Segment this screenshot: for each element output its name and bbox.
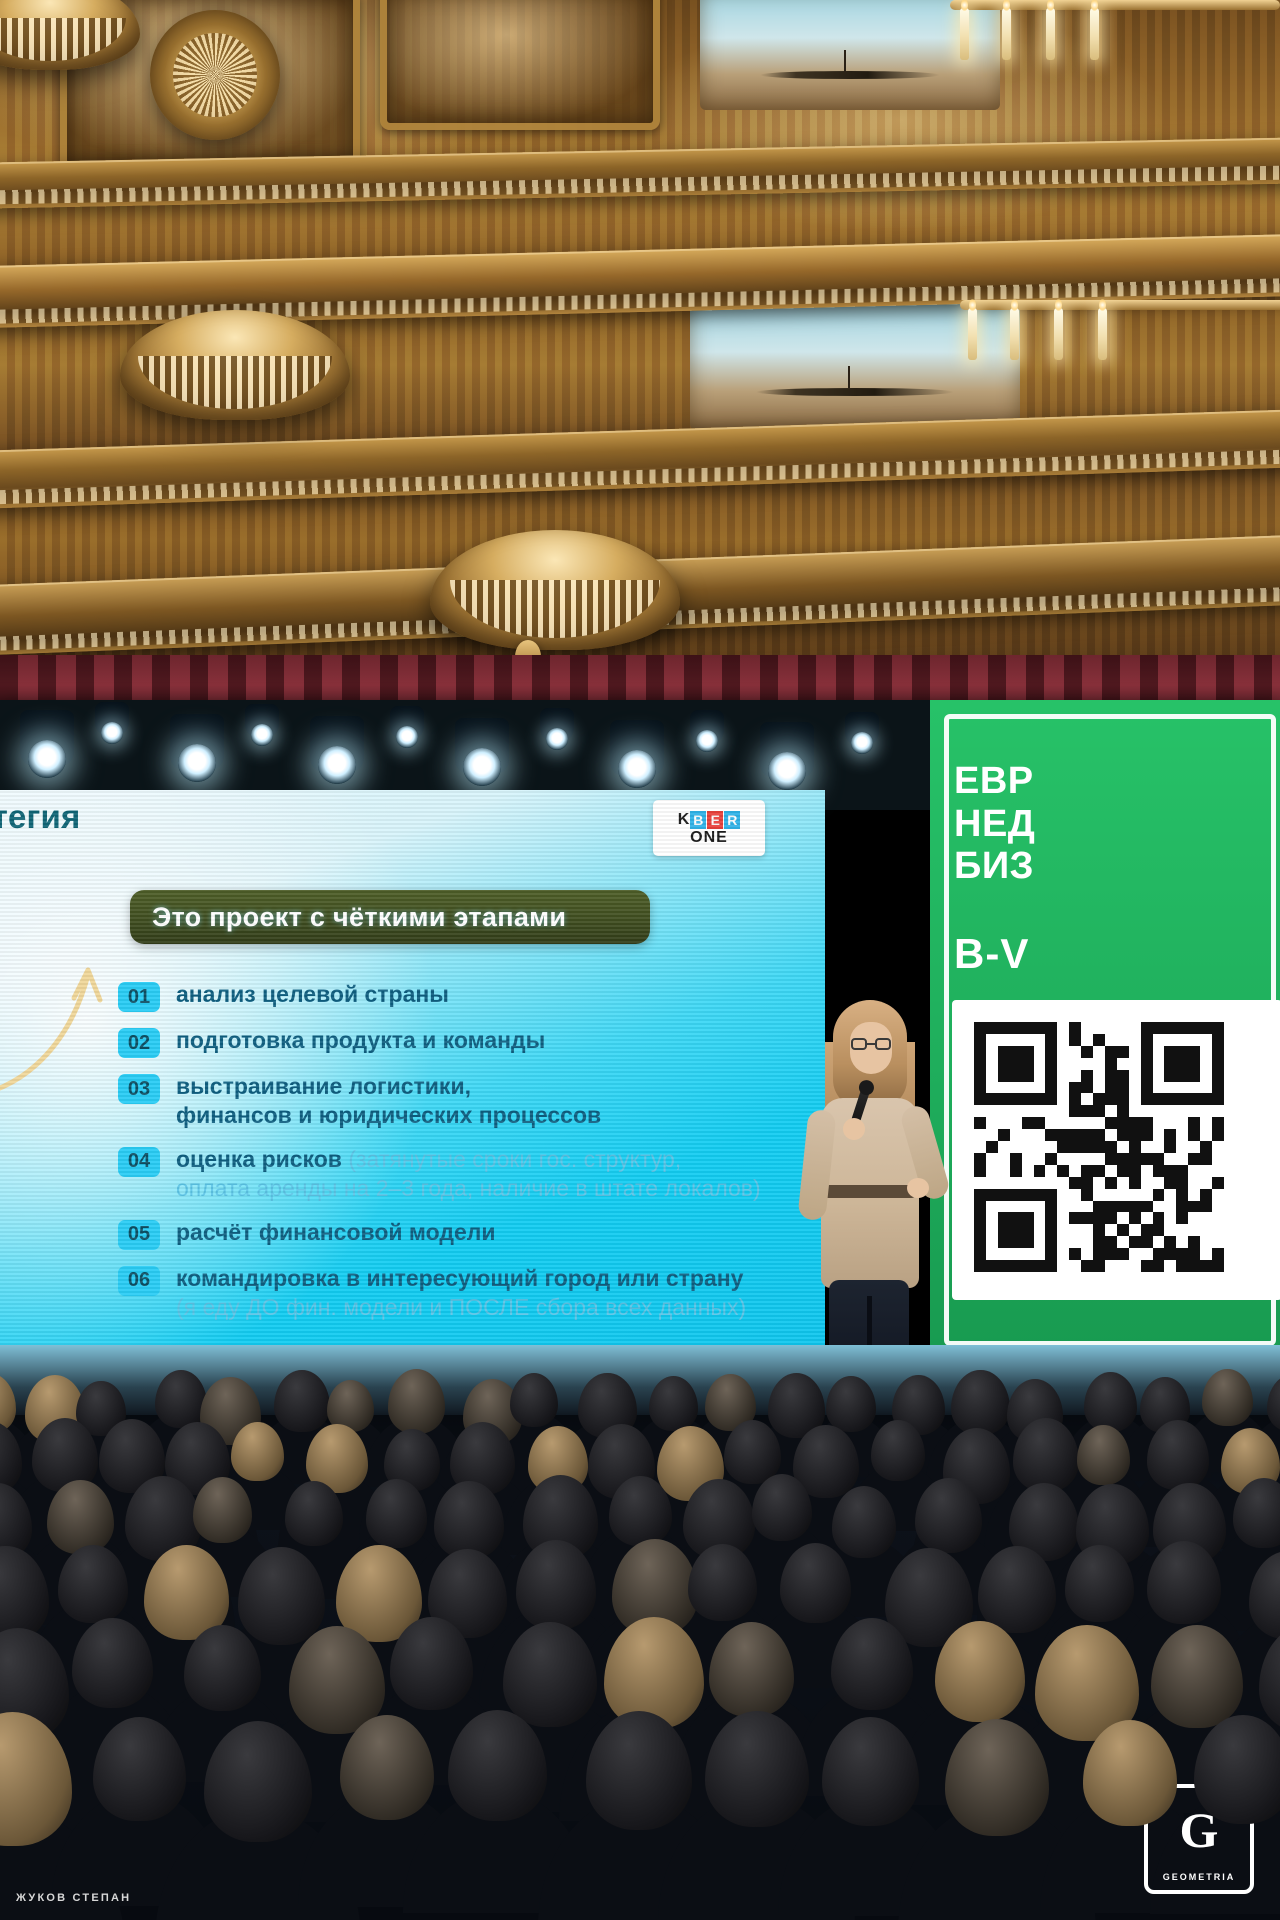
qr-module (974, 1058, 986, 1070)
qr-module (1022, 1058, 1034, 1070)
step-main: анализ целевой страны (176, 981, 449, 1007)
step-text: подготовка продукта и команды (176, 1026, 545, 1055)
qr-code-panel (952, 1000, 1280, 1300)
ceiling-dome-light (430, 530, 680, 650)
chandelier-candle (1054, 308, 1063, 360)
qr-module (1045, 1022, 1057, 1034)
banner-subtitle: B-V (954, 930, 1029, 978)
qr-module (998, 1058, 1010, 1070)
qr-module (1093, 1034, 1105, 1046)
qr-module (1045, 1201, 1057, 1213)
qr-module (974, 1165, 986, 1177)
qr-module (1034, 1189, 1046, 1201)
qr-module (1164, 1129, 1176, 1141)
qr-module (998, 1046, 1010, 1058)
stage-spotlight (610, 720, 664, 776)
qr-module (1010, 1153, 1022, 1165)
chandelier-bar (960, 300, 1280, 310)
qr-module (1176, 1212, 1188, 1224)
qr-module (1081, 1212, 1093, 1224)
qr-module (1212, 1082, 1224, 1094)
audience-head (951, 1370, 1009, 1435)
qr-module (1141, 1034, 1153, 1046)
step-number: 06 (118, 1266, 160, 1296)
fresco-mast (848, 366, 850, 388)
stage-spotlight (690, 710, 724, 744)
qr-module (1010, 1058, 1022, 1070)
qr-module (1117, 1082, 1129, 1094)
qr-module (1105, 1236, 1117, 1248)
chandelier-candle (1002, 8, 1011, 60)
qr-module (1129, 1165, 1141, 1177)
qr-module (998, 1236, 1010, 1248)
qr-module (1212, 1117, 1224, 1129)
qr-module (1045, 1046, 1057, 1058)
qr-module (998, 1129, 1010, 1141)
qr-module (1141, 1070, 1153, 1082)
qr-module (1034, 1093, 1046, 1105)
spotlight-lens (463, 748, 501, 786)
qr-module (1164, 1046, 1176, 1058)
qr-module (1153, 1153, 1165, 1165)
qr-module (974, 1201, 986, 1213)
qr-module (1164, 1165, 1176, 1177)
qr-module (1212, 1058, 1224, 1070)
slide-banner-title: Это проект с чёткими этапами (130, 890, 650, 944)
qr-module (1117, 1201, 1129, 1213)
qr-module (1212, 1022, 1224, 1034)
qr-module (998, 1093, 1010, 1105)
spotlight-lens (546, 728, 568, 750)
step-note: (затянутые сроки гос. структур, (342, 1146, 681, 1172)
qr-module (986, 1141, 998, 1153)
qr-module (1141, 1153, 1153, 1165)
qr-module (1117, 1093, 1129, 1105)
spotlight-lens (101, 722, 123, 744)
qr-module (974, 1248, 986, 1260)
glasses-bridge (867, 1043, 875, 1045)
photographer-credit: ЖУКОВ СТЕПАН (16, 1892, 131, 1904)
qr-module (1093, 1105, 1105, 1117)
qr-module (1129, 1129, 1141, 1141)
qr-module (1141, 1082, 1153, 1094)
qr-module (974, 1189, 986, 1201)
step-main: оценка рисков (176, 1146, 342, 1172)
audience-head (434, 1481, 504, 1559)
qr-module (1188, 1093, 1200, 1105)
qr-module (1164, 1236, 1176, 1248)
qr-module (1105, 1093, 1117, 1105)
kiberone-letter-e: E (707, 811, 723, 829)
qr-module (1212, 1093, 1224, 1105)
ceiling-molding (0, 409, 1280, 510)
qr-module (974, 1224, 986, 1236)
qr-module (1141, 1022, 1153, 1034)
step-text: анализ целевой страны (176, 980, 449, 1009)
step-number: 02 (118, 1028, 160, 1058)
qr-code[interactable] (974, 1022, 1224, 1272)
qr-module (1045, 1129, 1057, 1141)
qr-module (1164, 1093, 1176, 1105)
qr-module (1117, 1070, 1129, 1082)
fresco-boat (760, 71, 940, 79)
qr-module (1010, 1165, 1022, 1177)
banner-title-line2: НЕД (954, 803, 1035, 846)
kiberone-logo-row1: K B E R (678, 811, 741, 829)
audience-head (688, 1544, 757, 1621)
step-text: расчёт финансовой модели (176, 1218, 496, 1247)
qr-module (1081, 1070, 1093, 1082)
qr-module (1129, 1201, 1141, 1213)
chandelier-candle (1010, 308, 1019, 360)
step-main: командировка в интересующий город или ст… (176, 1265, 743, 1291)
step-number: 04 (118, 1147, 160, 1177)
qr-module (1117, 1105, 1129, 1117)
qr-module (974, 1034, 986, 1046)
event-banner: ЕВР НЕД БИЗ B-V (930, 700, 1280, 1360)
qr-module (1045, 1248, 1057, 1260)
qr-module (1188, 1201, 1200, 1213)
qr-module (1200, 1153, 1212, 1165)
qr-module (1212, 1129, 1224, 1141)
qr-module (974, 1022, 986, 1034)
eyeglasses-icon (851, 1038, 891, 1050)
list-item: 04 оценка рисков (затянутые сроки гос. с… (118, 1145, 808, 1204)
spotlight-lens (851, 732, 873, 754)
qr-module (1069, 1248, 1081, 1260)
qr-module (1141, 1093, 1153, 1105)
qr-module (1105, 1141, 1117, 1153)
qr-module (1105, 1201, 1117, 1213)
qr-module (974, 1236, 986, 1248)
lens-left (851, 1038, 867, 1050)
qr-module (1188, 1058, 1200, 1070)
qr-module (998, 1260, 1010, 1272)
step-main: выстраивание логистики, (176, 1073, 471, 1099)
qr-module (1141, 1260, 1153, 1272)
qr-module (1081, 1260, 1093, 1272)
list-item: 05 расчёт финансовой модели (118, 1218, 808, 1250)
chandelier (960, 300, 1280, 380)
qr-module (1129, 1236, 1141, 1248)
qr-module (1212, 1070, 1224, 1082)
qr-module (1188, 1070, 1200, 1082)
qr-module (1057, 1141, 1069, 1153)
qr-module (986, 1022, 998, 1034)
qr-module (1212, 1177, 1224, 1189)
qr-module (1081, 1105, 1093, 1117)
qr-module (1164, 1141, 1176, 1153)
stage-spotlight (170, 714, 224, 770)
qr-module (1022, 1236, 1034, 1248)
qr-module (1117, 1046, 1129, 1058)
qr-module (998, 1189, 1010, 1201)
qr-module (1022, 1212, 1034, 1224)
qr-module (974, 1070, 986, 1082)
audience-head (1202, 1369, 1252, 1426)
qr-module (1010, 1022, 1022, 1034)
qr-module (1010, 1260, 1022, 1272)
qr-module (1105, 1177, 1117, 1189)
qr-module (1117, 1117, 1129, 1129)
qr-module (974, 1046, 986, 1058)
qr-module (1153, 1189, 1165, 1201)
stage-spotlight (245, 704, 279, 738)
qr-module (1164, 1248, 1176, 1260)
qr-module (1069, 1093, 1081, 1105)
qr-module (1117, 1153, 1129, 1165)
qr-module (1010, 1046, 1022, 1058)
qr-module (1045, 1236, 1057, 1248)
qr-module (1034, 1165, 1046, 1177)
chandelier-candle (1098, 308, 1107, 360)
qr-module (1105, 1082, 1117, 1094)
qr-module (1093, 1212, 1105, 1224)
qr-module (1069, 1177, 1081, 1189)
qr-module (998, 1022, 1010, 1034)
step-number: 01 (118, 982, 160, 1012)
qr-module (1093, 1165, 1105, 1177)
qr-module (986, 1189, 998, 1201)
qr-module (1141, 1224, 1153, 1236)
kiberone-letter-r: R (724, 811, 740, 829)
stage-spotlight (390, 706, 424, 740)
qr-module (1129, 1177, 1141, 1189)
qr-module (1141, 1058, 1153, 1070)
qr-module (1176, 1201, 1188, 1213)
qr-module (1057, 1129, 1069, 1141)
speaker-person (795, 1000, 945, 1370)
qr-module (974, 1212, 986, 1224)
chandelier (950, 0, 1280, 80)
kiberone-logo: K B E R ONE (653, 800, 765, 856)
step-text: выстраивание логистики, финансов и юриди… (176, 1072, 601, 1131)
qr-module (1188, 1236, 1200, 1248)
qr-module (1022, 1117, 1034, 1129)
qr-module (1081, 1177, 1093, 1189)
kiberone-letter-k: K (678, 811, 690, 829)
spotlight-lens (251, 724, 273, 746)
qr-module (1093, 1141, 1105, 1153)
qr-module (1045, 1189, 1057, 1201)
chandelier-candle (968, 308, 977, 360)
qr-module (1045, 1034, 1057, 1046)
qr-module (986, 1260, 998, 1272)
list-item: 06 командировка в интересующий город или… (118, 1264, 808, 1323)
qr-module (1141, 1046, 1153, 1058)
banner-title-line3: БИЗ (954, 845, 1035, 888)
qr-module (1176, 1165, 1188, 1177)
spotlight-lens (618, 750, 656, 788)
speaker-belt (825, 1185, 915, 1198)
qr-module (1069, 1034, 1081, 1046)
qr-module (1045, 1058, 1057, 1070)
qr-module (1010, 1189, 1022, 1201)
qr-module (1081, 1129, 1093, 1141)
qr-module (986, 1093, 998, 1105)
qr-module (1117, 1224, 1129, 1236)
qr-module (1188, 1022, 1200, 1034)
qr-module (1022, 1260, 1034, 1272)
stage-spotlight (540, 708, 574, 742)
ornate-ceiling (0, 0, 1280, 730)
qr-module (1045, 1153, 1057, 1165)
stage-spotlight (845, 712, 879, 746)
qr-module (1212, 1034, 1224, 1046)
qr-module (1105, 1212, 1117, 1224)
qr-module (1176, 1022, 1188, 1034)
qr-module (1022, 1189, 1034, 1201)
qr-module (1141, 1236, 1153, 1248)
kiberone-letter-b: B (690, 811, 706, 829)
qr-module (1093, 1201, 1105, 1213)
qr-module (1057, 1165, 1069, 1177)
qr-module (1188, 1046, 1200, 1058)
audience-head (1077, 1425, 1130, 1484)
qr-module (1093, 1236, 1105, 1248)
qr-module (1069, 1129, 1081, 1141)
qr-module (974, 1153, 986, 1165)
step-subline: (я еду ДО фин. модели и ПОСЛЕ сбора всех… (176, 1293, 746, 1322)
speaker-hand-left (843, 1118, 865, 1140)
qr-module (1010, 1093, 1022, 1105)
qr-module (1153, 1022, 1165, 1034)
qr-module (1034, 1260, 1046, 1272)
qr-module (1022, 1022, 1034, 1034)
qr-module (1141, 1201, 1153, 1213)
chandelier-candle (1046, 8, 1055, 60)
qr-module (1105, 1248, 1117, 1260)
presentation-screen: а и стратегия ок — ит жж, ля кого идём Э… (0, 790, 825, 1355)
stage-spotlight (760, 722, 814, 778)
qr-module (1081, 1189, 1093, 1201)
speaker-hand-right (907, 1178, 929, 1198)
qr-module (1069, 1105, 1081, 1117)
qr-module (1129, 1141, 1141, 1153)
egg-dart-pattern (0, 165, 1280, 205)
chandelier-bar (950, 0, 1280, 10)
qr-module (998, 1212, 1010, 1224)
qr-module (1164, 1058, 1176, 1070)
qr-module (1153, 1212, 1165, 1224)
curved-arrow-icon (0, 920, 120, 1100)
qr-module (1034, 1022, 1046, 1034)
qr-module (1081, 1046, 1093, 1058)
qr-module (1105, 1046, 1117, 1058)
banner-title-line1: ЕВР (954, 760, 1035, 803)
qr-module (1105, 1153, 1117, 1165)
step-number: 03 (118, 1074, 160, 1104)
qr-module (1200, 1022, 1212, 1034)
list-item: 03 выстраивание логистики, финансов и юр… (118, 1072, 808, 1131)
qr-module (1045, 1224, 1057, 1236)
step-subline: финансов и юридических процессов (176, 1101, 601, 1130)
qr-module (1022, 1224, 1034, 1236)
qr-module (1153, 1224, 1165, 1236)
qr-module (1117, 1129, 1129, 1141)
list-item: 02 подготовка продукта и команды (118, 1026, 808, 1058)
qr-module (1022, 1070, 1034, 1082)
qr-module (1022, 1046, 1034, 1058)
qr-module (1164, 1022, 1176, 1034)
qr-module (1045, 1093, 1057, 1105)
slide-banner-text: Это проект с чёткими этапами (130, 902, 566, 933)
spotlight-lens (28, 740, 66, 778)
ceiling-rosette (150, 10, 280, 140)
qr-module (1200, 1093, 1212, 1105)
kiberone-logo-row2: ONE (690, 830, 728, 846)
qr-module (1176, 1189, 1188, 1201)
step-subline: оплата аренды на 2–3 года, наличие в шта… (176, 1174, 761, 1203)
egg-dart-pattern (0, 449, 1280, 506)
spotlight-lens (768, 752, 806, 790)
chandelier-candle (960, 8, 969, 60)
qr-module (1093, 1248, 1105, 1260)
qr-module (1200, 1201, 1212, 1213)
qr-module (1200, 1260, 1212, 1272)
spotlight-lens (696, 730, 718, 752)
qr-module (1093, 1224, 1105, 1236)
qr-module (1081, 1165, 1093, 1177)
qr-module (1045, 1260, 1057, 1272)
qr-module (1010, 1070, 1022, 1082)
qr-module (1188, 1117, 1200, 1129)
watermark-label: GEOMETRIA (1144, 1872, 1254, 1882)
qr-module (1176, 1046, 1188, 1058)
qr-module (1129, 1212, 1141, 1224)
lens-right (875, 1038, 891, 1050)
step-number: 05 (118, 1220, 160, 1250)
stage-spotlight (95, 702, 129, 736)
qr-module (1164, 1177, 1176, 1189)
qr-module (1022, 1093, 1034, 1105)
qr-module (1105, 1058, 1117, 1070)
spotlight-lens (396, 726, 418, 748)
qr-module (1188, 1129, 1200, 1141)
stage-spotlight (20, 710, 74, 766)
qr-module (1093, 1093, 1105, 1105)
qr-module (1153, 1093, 1165, 1105)
audience-head (1013, 1418, 1079, 1492)
qr-module (1188, 1260, 1200, 1272)
fresco-mast (844, 50, 846, 72)
qr-module (1010, 1236, 1022, 1248)
ceiling-coffer (380, 0, 660, 130)
step-main: подготовка продукта и команды (176, 1027, 545, 1053)
step-text: оценка рисков (затянутые сроки гос. стру… (176, 1145, 761, 1204)
qr-module (1093, 1260, 1105, 1272)
qr-module (1188, 1153, 1200, 1165)
qr-module (1212, 1046, 1224, 1058)
qr-module (1105, 1070, 1117, 1082)
qr-module (1129, 1153, 1141, 1165)
qr-module (1081, 1082, 1093, 1094)
qr-module (1200, 1189, 1212, 1201)
qr-module (1045, 1082, 1057, 1094)
qr-module (1141, 1117, 1153, 1129)
slide-steps-list: 01 анализ целевой страны 02 подготовка п… (118, 980, 808, 1337)
qr-module (998, 1224, 1010, 1236)
spotlight-lens (318, 746, 356, 784)
qr-module (1010, 1224, 1022, 1236)
qr-module (998, 1070, 1010, 1082)
qr-module (1117, 1248, 1129, 1260)
qr-module (1188, 1248, 1200, 1260)
qr-module (974, 1260, 986, 1272)
qr-module (1176, 1058, 1188, 1070)
chandelier-candle (1090, 8, 1099, 60)
qr-module (1034, 1117, 1046, 1129)
